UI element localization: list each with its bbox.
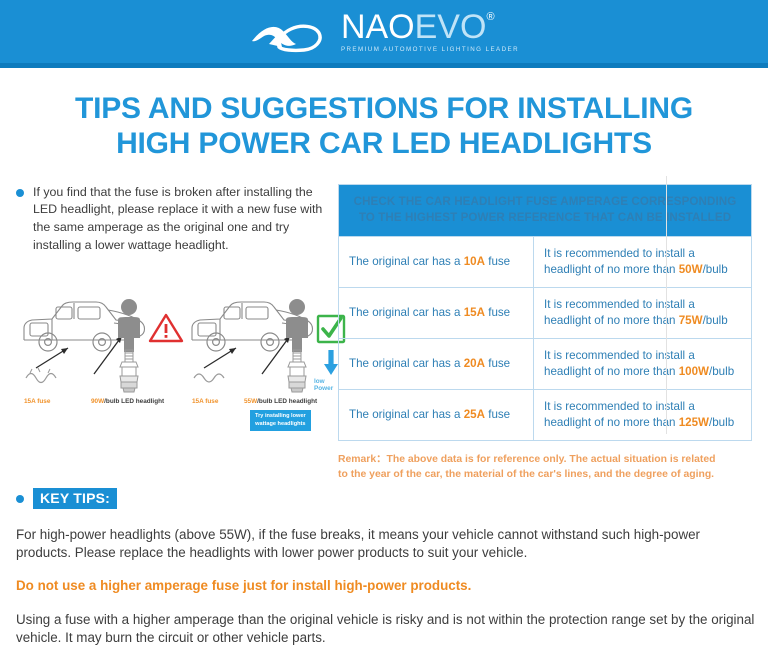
row2-right-post: /bulb xyxy=(709,365,734,378)
illustration-group: 15A fuse 90W/bulb LED headlight xyxy=(16,290,336,430)
led-bulb-icon xyxy=(116,348,142,394)
table-header-cell: CHECK THE CAR HEADLIGHT FUSE AMPERAGE CO… xyxy=(339,184,752,236)
page-header: NAO EVO ® PREMIUM AUTOMOTIVE LIGHTING LE… xyxy=(0,0,768,68)
intro-bullet-text: If you find that the fuse is broken afte… xyxy=(33,184,326,254)
remark-line2: to the year of the car, the material of … xyxy=(338,467,752,482)
table-cell-fuse: The original car has a 20A fuse xyxy=(339,338,534,389)
right-column: CHECK THE CAR HEADLIGHT FUSE AMPERAGE CO… xyxy=(338,184,752,482)
table-cell-recommendation: It is recommended to install a headlight… xyxy=(534,338,752,389)
table-header-line1: CHECK THE CAR HEADLIGHT FUSE AMPERAGE CO… xyxy=(347,194,743,210)
row1-left-post: fuse xyxy=(485,306,510,319)
warning-triangle-icon xyxy=(148,312,184,344)
row1-amp: 15A xyxy=(464,306,485,319)
row3-left-post: fuse xyxy=(485,408,510,421)
table-row: The original car has a 20A fuse It is re… xyxy=(339,338,752,389)
bullet-dot-icon xyxy=(16,189,24,197)
row0-watt: 50W xyxy=(679,263,703,276)
row2-watt: 100W xyxy=(679,365,709,378)
main-content: If you find that the fuse is broken afte… xyxy=(0,184,768,484)
table-cell-fuse: The original car has a 25A fuse xyxy=(339,389,534,440)
row3-amp: 25A xyxy=(464,408,485,421)
good-bulb-watt: 55W xyxy=(244,398,257,405)
bad-fuse-label: 15A fuse xyxy=(24,398,50,405)
intro-bullet: If you find that the fuse is broken afte… xyxy=(16,184,326,254)
row3-right-pre: It is recommended to install a headlight… xyxy=(544,400,695,429)
row0-right-post: /bulb xyxy=(703,263,728,276)
key-tips-header: KEY TIPS: xyxy=(16,488,756,509)
bullet-dot-icon xyxy=(16,495,24,503)
row3-right-post: /bulb xyxy=(709,416,734,429)
led-bulb-icon xyxy=(284,348,310,394)
table-cell-recommendation: It is recommended to install a headlight… xyxy=(534,236,752,287)
row0-left-post: fuse xyxy=(485,255,510,268)
row2-amp: 20A xyxy=(464,357,485,370)
page-title-line2: HIGH POWER CAR LED HEADLIGHTS xyxy=(0,126,768,161)
table-cell-recommendation: It is recommended to install a headlight… xyxy=(534,287,752,338)
page-title-line1: TIPS AND SUGGESTIONS FOR INSTALLING xyxy=(0,91,768,126)
bad-bulb-rest: /bulb LED headlight xyxy=(104,398,164,405)
table-header-row: CHECK THE CAR HEADLIGHT FUSE AMPERAGE CO… xyxy=(339,184,752,236)
key-tips-warning: Do not use a higher amperage fuse just f… xyxy=(16,577,756,595)
down-arrow-icon xyxy=(324,350,338,376)
row1-right-post: /bulb xyxy=(703,314,728,327)
table-remark: Remark：The above data is for reference o… xyxy=(338,452,752,482)
row2-left-post: fuse xyxy=(485,357,510,370)
table-row: The original car has a 25A fuse It is re… xyxy=(339,389,752,440)
table-cell-recommendation: It is recommended to install a headlight… xyxy=(534,389,752,440)
row2-left-pre: The original car has a xyxy=(349,357,464,370)
table-row: The original car has a 15A fuse It is re… xyxy=(339,287,752,338)
logo-brand-second: EVO xyxy=(415,10,487,44)
logo-tagline: PREMIUM AUTOMOTIVE LIGHTING LEADER xyxy=(341,47,519,53)
nao-swoosh-icon xyxy=(249,14,335,54)
registered-mark: ® xyxy=(486,12,494,23)
row1-watt: 75W xyxy=(679,314,703,327)
bad-bulb-label: 90W/bulb LED headlight xyxy=(91,398,164,405)
remark-line1: Remark：The above data is for reference o… xyxy=(338,452,752,467)
good-bulb-label: 55W/bulb LED headlight xyxy=(244,398,317,405)
key-tips-section: KEY TIPS: For high-power headlights (abo… xyxy=(16,488,756,647)
row3-left-pre: The original car has a xyxy=(349,408,464,421)
row1-left-pre: The original car has a xyxy=(349,306,464,319)
key-tips-paragraph-2: Using a fuse with a higher amperage than… xyxy=(16,611,756,647)
row2-right-pre: It is recommended to install a headlight… xyxy=(544,349,695,378)
tip-chip-line1: Try installing lower xyxy=(255,413,306,421)
logo-brand-first: NAO xyxy=(341,10,415,44)
page-title: TIPS AND SUGGESTIONS FOR INSTALLING HIGH… xyxy=(0,91,768,162)
illustration-good-case: low Power 15A fuse 55W/bulb LED headligh… xyxy=(184,290,344,395)
row3-watt: 125W xyxy=(679,416,709,429)
table-cell-fuse: The original car has a 15A fuse xyxy=(339,287,534,338)
fuse-amperage-table: CHECK THE CAR HEADLIGHT FUSE AMPERAGE CO… xyxy=(338,184,752,441)
table-cell-fuse: The original car has a 10A fuse xyxy=(339,236,534,287)
row0-right-pre: It is recommended to install a headlight… xyxy=(544,247,695,276)
key-tips-badge: KEY TIPS: xyxy=(33,488,117,509)
column-divider xyxy=(666,176,667,434)
tip-chip-line2: wattage headlights xyxy=(255,421,306,429)
row0-left-pre: The original car has a xyxy=(349,255,464,268)
table-header-line2: TO THE HIGHEST POWER REFERENCE THAT CAN … xyxy=(347,210,743,226)
row0-amp: 10A xyxy=(464,255,485,268)
left-column: If you find that the fuse is broken afte… xyxy=(16,184,326,430)
person-icon xyxy=(114,298,144,354)
person-icon xyxy=(282,298,312,354)
table-row: The original car has a 10A fuse It is re… xyxy=(339,236,752,287)
good-fuse-label: 15A fuse xyxy=(192,398,218,405)
good-bulb-rest: /bulb LED headlight xyxy=(257,398,317,405)
try-lower-wattage-chip: Try installing lower wattage headlights xyxy=(250,410,311,431)
illustration-bad-case: 15A fuse 90W/bulb LED headlight xyxy=(16,290,176,395)
row1-right-pre: It is recommended to install a headlight… xyxy=(544,298,695,327)
bad-bulb-watt: 90W xyxy=(91,398,104,405)
brand-logo: NAO EVO ® PREMIUM AUTOMOTIVE LIGHTING LE… xyxy=(249,10,519,53)
key-tips-paragraph-1: For high-power headlights (above 55W), i… xyxy=(16,526,756,562)
